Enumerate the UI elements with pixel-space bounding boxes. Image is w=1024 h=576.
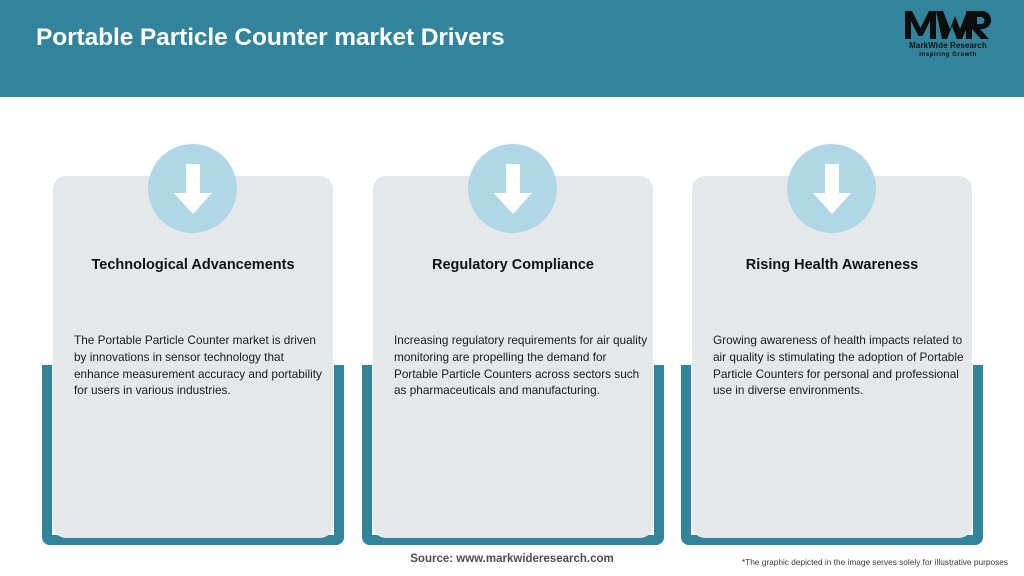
disclaimer-note: *The graphic depicted in the image serve… <box>742 557 1008 567</box>
driver-card[interactable]: Regulatory Compliance Increasing regulat… <box>362 144 664 545</box>
card-body-text: Growing awareness of health impacts rela… <box>713 332 969 399</box>
page-title: Portable Particle Counter market Drivers <box>36 24 505 52</box>
card-title: Regulatory Compliance <box>373 256 653 274</box>
markwide-research-logo: MarkWide Research Inspiring Growth <box>896 10 1000 66</box>
card-title: Technological Advancements <box>53 256 333 274</box>
drivers-card-row: Technological Advancements The Portable … <box>0 97 1024 576</box>
mwr-monogram-icon <box>896 10 1000 40</box>
card-body-text: The Portable Particle Counter market is … <box>74 332 330 399</box>
driver-card[interactable]: Rising Health Awareness Growing awarenes… <box>681 144 983 545</box>
card-title: Rising Health Awareness <box>692 256 972 274</box>
down-arrow-icon <box>787 144 876 233</box>
logo-company-name: MarkWide Research <box>896 41 1000 50</box>
down-arrow-icon <box>148 144 237 233</box>
page-header: Portable Particle Counter market Drivers… <box>0 0 1024 97</box>
card-body-text: Increasing regulatory requirements for a… <box>394 332 650 399</box>
logo-tagline: Inspiring Growth <box>896 51 1000 58</box>
driver-card[interactable]: Technological Advancements The Portable … <box>42 144 344 545</box>
down-arrow-icon <box>468 144 557 233</box>
